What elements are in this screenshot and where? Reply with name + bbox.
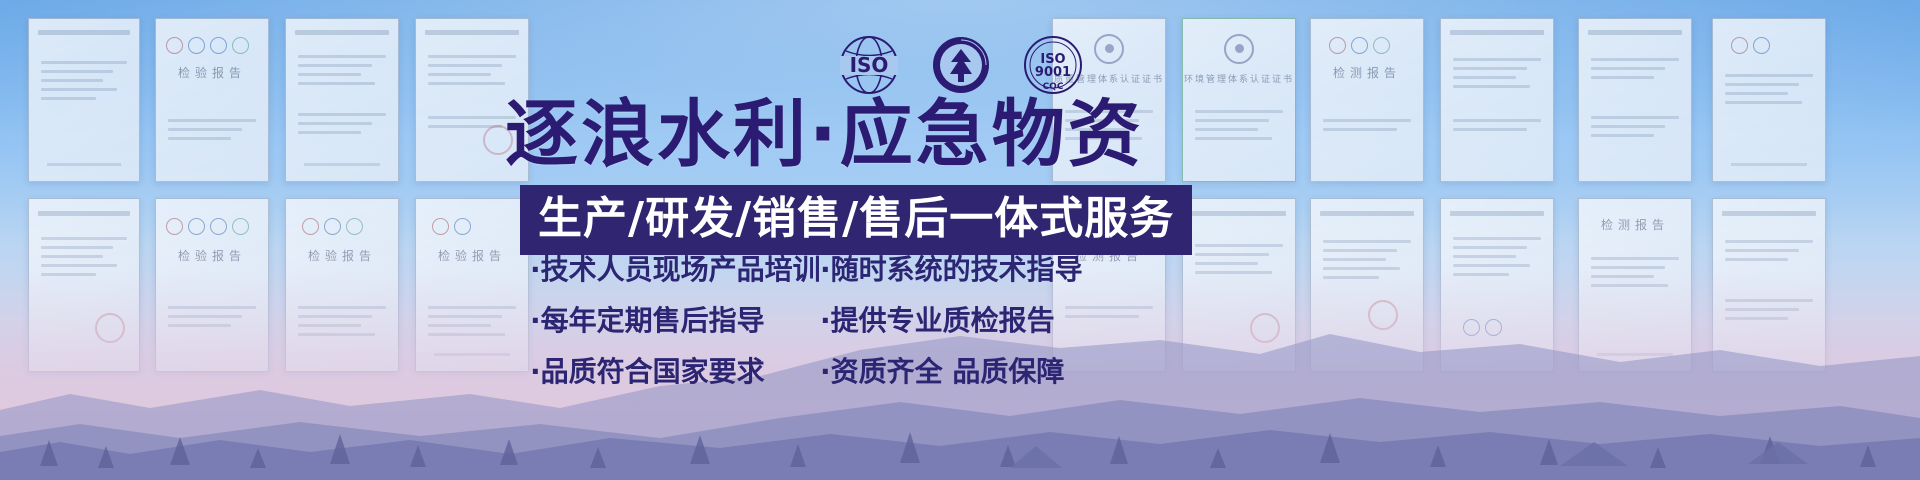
svg-text:9001: 9001 [1035,65,1071,80]
banner-content: ISO ISO 9001 CQC [0,0,1920,480]
iso-9001-cqc-icon: ISO 9001 CQC [1022,34,1084,96]
subtitle-bar: 生产/研发/销售/售后一体式服务 [520,185,1192,255]
promo-banner: 检验报告 质量管理体系认证证书 环境管理体系认证证书 [0,0,1920,480]
iso-14000-environment-icon [930,34,992,96]
svg-text:ISO: ISO [850,53,889,77]
feature-item: ·技术人员现场产品培训 [530,252,820,287]
feature-list: ·技术人员现场产品培训 ·随时系统的技术指导 ·每年定期售后指导 ·提供专业质检… [530,252,1070,389]
feature-row: ·技术人员现场产品培训 ·随时系统的技术指导 [530,252,1070,287]
certification-badge-row: ISO ISO 9001 CQC [838,34,1084,96]
feature-item: ·资质齐全 品质保障 [820,354,1070,389]
svg-text:CQC: CQC [1043,82,1064,92]
feature-item: ·随时系统的技术指导 [820,252,1070,287]
feature-item: ·每年定期售后指导 [530,303,820,338]
feature-item: ·品质符合国家要求 [530,354,820,389]
feature-item: ·提供专业质检报告 [820,303,1070,338]
feature-row: ·品质符合国家要求 ·资质齐全 品质保障 [530,354,1070,389]
iso-globe-icon: ISO [838,34,900,96]
page-title: 逐浪水利·应急物资 [505,98,1144,171]
feature-row: ·每年定期售后指导 ·提供专业质检报告 [530,303,1070,338]
